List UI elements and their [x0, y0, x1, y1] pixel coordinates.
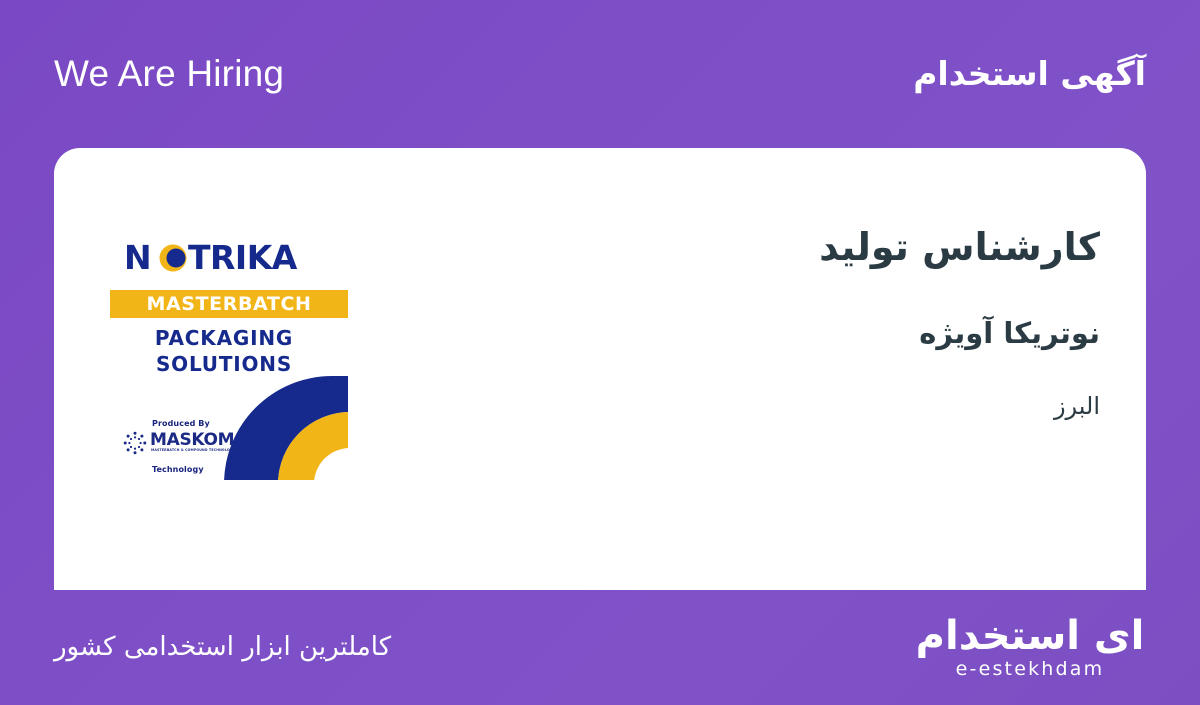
job-location: البرز	[480, 391, 1100, 422]
logo-tagline: PACKAGING SOLUTIONS	[100, 326, 348, 377]
tagline-line-1: PACKAGING	[100, 326, 348, 352]
svg-text:ای استخدام: ای استخدام	[916, 613, 1145, 658]
svg-text:TRIKA: TRIKA	[188, 238, 298, 277]
job-details: کارشناس تولید نوتریکا آویژه البرز	[480, 222, 1100, 422]
maskom-produced-by-label: Produced By	[152, 420, 210, 428]
svg-text:N: N	[124, 238, 151, 277]
maskom-subtitle-label: MASTERBATCH & COMPOUND TECHNOLOGIES	[151, 449, 239, 453]
header-persian-title: آگهی استخدام	[913, 53, 1146, 96]
e-estekhdam-latin-label: e-estekhdam	[914, 660, 1146, 679]
masterbatch-band: MASTERBATCH	[110, 290, 348, 318]
job-title: کارشناس تولید	[480, 222, 1100, 273]
masterbatch-label: MASTERBATCH	[147, 295, 312, 314]
maskom-burst-icon	[122, 430, 148, 456]
maskom-name-label: MASKOM	[150, 432, 234, 449]
header-english-title: We Are Hiring	[54, 54, 284, 95]
poster-footer: کاملترین ابزار استخدامی کشور ای استخدام …	[0, 590, 1200, 705]
poster-header: We Are Hiring آگهی استخدام	[0, 0, 1200, 148]
notrika-wordmark: N TRIKA	[100, 238, 348, 278]
arc-swoosh-icon	[224, 376, 348, 480]
e-estekhdam-wordmark-icon: ای استخدام	[914, 612, 1146, 658]
company-logo: N TRIKA MASTERBATCH PACKAGING SOLUTIONS	[100, 228, 348, 480]
job-card: N TRIKA MASTERBATCH PACKAGING SOLUTIONS	[54, 148, 1146, 590]
maskom-technology-label: Technology	[152, 466, 204, 474]
notrika-wordmark-icon: N TRIKA	[124, 238, 324, 278]
hiring-poster: We Are Hiring آگهی استخدام N TRIKA MASTE…	[0, 0, 1200, 705]
tagline-line-2: SOLUTIONS	[100, 352, 348, 378]
e-estekhdam-logo: ای استخدام e-estekhdam	[914, 612, 1146, 684]
job-card-inner: N TRIKA MASTERBATCH PACKAGING SOLUTIONS	[54, 148, 1146, 590]
maskom-producer-logo: Produced By	[122, 420, 242, 474]
company-name: نوتریکا آویژه	[480, 315, 1100, 353]
footer-slogan: کاملترین ابزار استخدامی کشور	[54, 629, 391, 665]
